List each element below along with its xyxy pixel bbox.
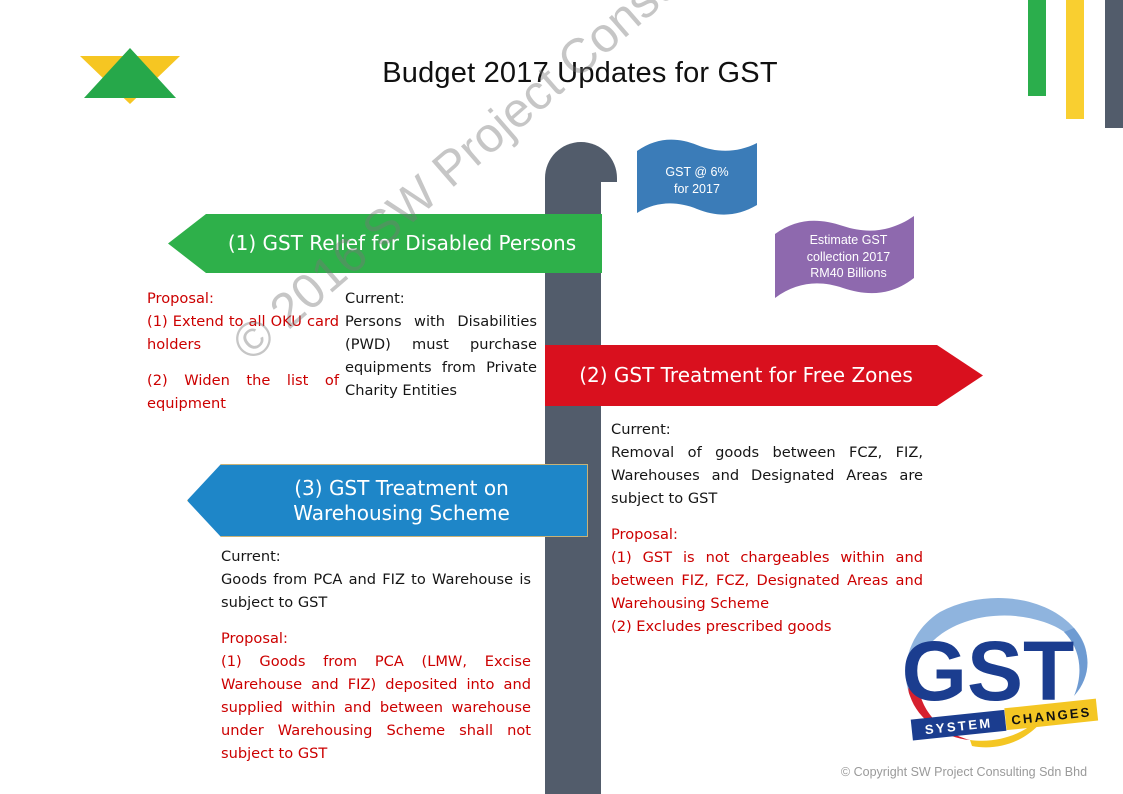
section1-current-line-1: Persons with Disabilities (PWD) must pur…	[345, 310, 537, 402]
section1-proposal-heading: Proposal:	[147, 287, 339, 310]
section3-current-line-1: Goods from PCA and FIZ to Warehouse is s…	[221, 568, 531, 614]
section1-proposal-line-1: (1) Extend to all OKU card holders	[147, 310, 339, 356]
spacer	[221, 614, 531, 627]
section2-proposal-heading: Proposal:	[611, 523, 923, 546]
spacer	[611, 510, 923, 523]
spacer	[147, 356, 339, 369]
section1-proposal-block: Proposal: (1) Extend to all OKU card hol…	[147, 287, 339, 415]
banner-gst-treatment-warehousing-scheme[interactable]: (3) GST Treatment on Warehousing Scheme	[187, 464, 588, 537]
section1-current-block: Current: Persons with Disabilities (PWD)…	[345, 287, 537, 402]
section2-current-heading: Current:	[611, 418, 923, 441]
section2-text-block: Current: Removal of goods between FCZ, F…	[611, 418, 923, 638]
decor-bar-yellow	[1066, 0, 1084, 119]
section1-proposal-line-2: (2) Widen the list of equipment	[147, 369, 339, 415]
section1-current-heading: Current:	[345, 287, 537, 310]
section2-proposal-line-1: (1) GST is not chargeables within and be…	[611, 546, 923, 615]
copyright-notice: © Copyright SW Project Consulting Sdn Bh…	[818, 765, 1110, 779]
flag-line-1: Estimate GST	[807, 232, 890, 249]
banner-gst-treatment-free-zones[interactable]: (2) GST Treatment for Free Zones	[545, 345, 983, 406]
section2-proposal-line-2: (2) Excludes prescribed goods	[611, 615, 923, 638]
flag-gst-collection-text: Estimate GST collection 2017 RM40 Billio…	[799, 232, 890, 283]
banner-3-label: (3) GST Treatment on Warehousing Scheme	[230, 476, 573, 525]
section3-proposal-line-1: (1) Goods from PCA (LMW, Excise Warehous…	[221, 650, 531, 765]
triangle-logo-icon	[78, 42, 182, 106]
decor-bar-gray	[1105, 0, 1123, 128]
section3-proposal-heading: Proposal:	[221, 627, 531, 650]
banner-gst-relief-disabled-persons[interactable]: (1) GST Relief for Disabled Persons	[168, 214, 602, 273]
banner-2-label: (2) GST Treatment for Free Zones	[579, 363, 913, 387]
flag-gst-collection: Estimate GST collection 2017 RM40 Billio…	[773, 212, 916, 302]
slide-canvas: Budget 2017 Updates for GST GST @ 6% for…	[0, 0, 1123, 794]
signpost-cap	[545, 142, 617, 182]
gst-system-changes-logo: GST SYSTEM CHANGES	[878, 592, 1104, 762]
section3-current-heading: Current:	[221, 545, 531, 568]
flag-gst-rate: GST @ 6% for 2017	[635, 139, 759, 223]
flag-line-2: for 2017	[665, 181, 728, 198]
page-title: Budget 2017 Updates for GST	[280, 57, 880, 90]
flag-line-2: collection 2017	[807, 249, 890, 266]
section2-current-line-1: Removal of goods between FCZ, FIZ, Wareh…	[611, 441, 923, 510]
flag-line-3: RM40 Billions	[807, 265, 890, 282]
banner-1-label: (1) GST Relief for Disabled Persons	[228, 231, 576, 255]
decor-bar-green	[1028, 0, 1046, 96]
flag-gst-rate-text: GST @ 6% for 2017	[665, 164, 728, 198]
flag-line-1: GST @ 6%	[665, 164, 728, 181]
section3-text-block: Current: Goods from PCA and FIZ to Wareh…	[221, 545, 531, 765]
